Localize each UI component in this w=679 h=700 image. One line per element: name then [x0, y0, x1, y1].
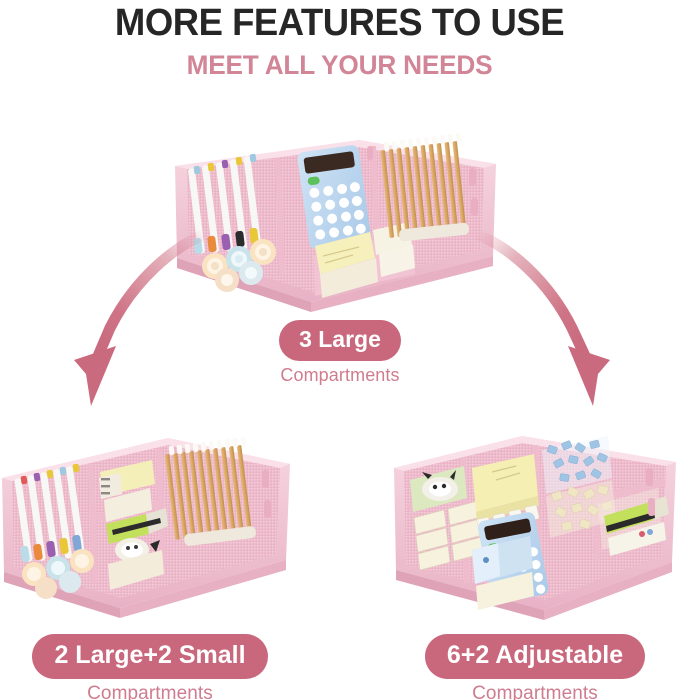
product-image-6-2-adjustable: [392, 432, 679, 622]
caption-3-large: 3 Large Compartments: [240, 320, 440, 386]
curved-arrow-down-left-icon: [58, 228, 228, 413]
caption-2-large-2-small-sub: Compartments: [2, 683, 298, 700]
badge-6-2-adjustable: 6+2 Adjustable: [425, 634, 645, 679]
caption-2-large-2-small: 2 Large+2 Small Compartments: [2, 634, 298, 700]
badge-3-large: 3 Large: [279, 320, 401, 361]
page-subtitle: MEET ALL YOUR NEEDS: [10, 51, 669, 81]
caption-3-large-sub: Compartments: [240, 365, 440, 386]
product-image-2-large-2-small: [0, 432, 300, 622]
caption-6-2-adjustable-sub: Compartments: [392, 683, 678, 700]
curved-arrow-down-right-icon: [452, 228, 627, 413]
page-title: MORE FEATURES TO USE: [14, 4, 666, 44]
badge-2-large-2-small: 2 Large+2 Small: [32, 634, 267, 679]
header: MORE FEATURES TO USE MEET ALL YOUR NEEDS: [0, 0, 679, 81]
caption-6-2-adjustable: 6+2 Adjustable Compartments: [392, 634, 678, 700]
